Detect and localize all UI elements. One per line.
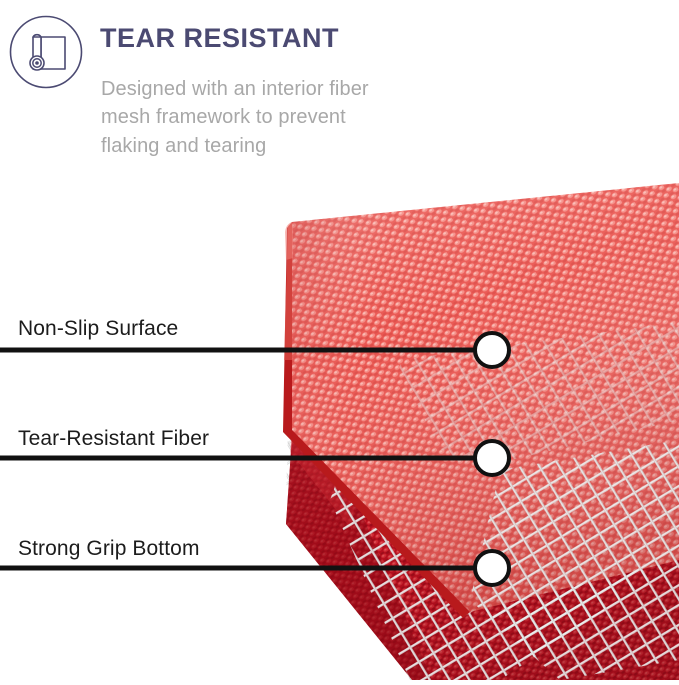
callout-leader-lines: [0, 0, 679, 680]
callout-label-strong-grip-bottom: Strong Grip Bottom: [18, 538, 200, 559]
callout-label-tear-resistant-fiber: Tear-Resistant Fiber: [18, 428, 209, 449]
callout-group: Non-Slip Surface Tear-Resistant Fiber St…: [0, 0, 679, 680]
infographic-canvas: TEAR RESISTANT Designed with an interior…: [0, 0, 679, 680]
callout-label-non-slip-surface: Non-Slip Surface: [18, 318, 178, 339]
